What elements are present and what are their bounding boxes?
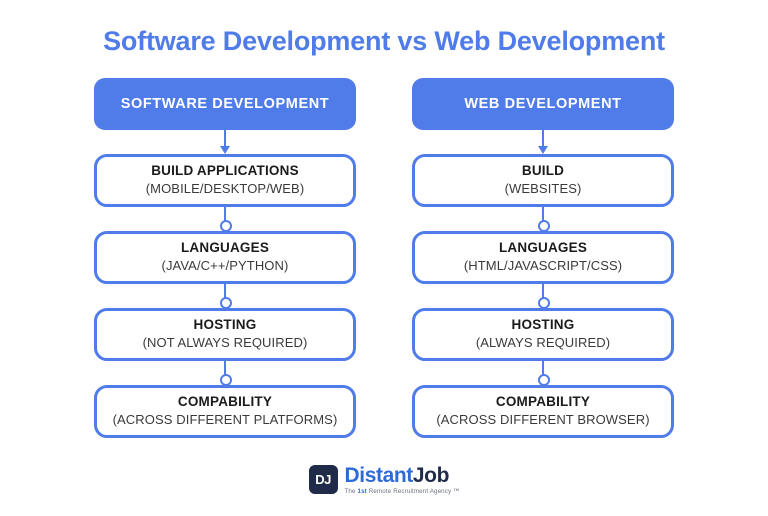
logo-wordmark: DistantJob (345, 465, 460, 486)
infographic-canvas: Software Development vs Web Development … (0, 0, 768, 516)
card-title: HOSTING (194, 317, 257, 334)
card-software-3: COMPABILITY (ACROSS DIFFERENT PLATFORMS) (94, 385, 356, 438)
card-subtitle: (HTML/JAVASCRIPT/CSS) (464, 258, 622, 275)
card-subtitle: (NOT ALWAYS REQUIRED) (143, 335, 308, 352)
card-title: LANGUAGES (181, 240, 269, 257)
connector-ring-software-1 (94, 207, 356, 231)
circle-node-icon (220, 220, 232, 232)
tagline-highlight: 1st (357, 488, 366, 495)
card-web-2: HOSTING (ALWAYS REQUIRED) (412, 308, 674, 361)
tagline-before: The (345, 488, 358, 495)
card-software-2: HOSTING (NOT ALWAYS REQUIRED) (94, 308, 356, 361)
card-title: BUILD APPLICATIONS (151, 163, 299, 180)
connector-ring-web-2 (412, 284, 674, 308)
connector-arrow-web-0 (412, 130, 674, 154)
column-software-development: SOFTWARE DEVELOPMENT BUILD APPLICATIONS … (94, 78, 356, 438)
connector-line (224, 207, 226, 221)
circle-node-icon (538, 220, 550, 232)
logo-text: DistantJob The 1st Remote Recruitment Ag… (345, 465, 460, 495)
page-title: Software Development vs Web Development (0, 26, 768, 57)
connector-line (224, 130, 226, 147)
column-header-web-development: WEB DEVELOPMENT (412, 78, 674, 130)
card-title: COMPABILITY (178, 394, 272, 411)
card-software-1: LANGUAGES (JAVA/C++/PYTHON) (94, 231, 356, 284)
card-subtitle: (ACROSS DIFFERENT BROWSER) (436, 412, 649, 429)
card-subtitle: (MOBILE/DESKTOP/WEB) (146, 181, 305, 198)
connector-line (542, 207, 544, 221)
footer: DJ DistantJob The 1st Remote Recruitment… (0, 465, 768, 495)
card-title: LANGUAGES (499, 240, 587, 257)
distantjob-logo: DJ DistantJob The 1st Remote Recruitment… (309, 465, 460, 495)
card-web-1: LANGUAGES (HTML/JAVASCRIPT/CSS) (412, 231, 674, 284)
circle-node-icon (220, 374, 232, 386)
column-header-software-development: SOFTWARE DEVELOPMENT (94, 78, 356, 130)
card-subtitle: (ALWAYS REQUIRED) (476, 335, 610, 352)
circle-node-icon (538, 297, 550, 309)
card-software-0: BUILD APPLICATIONS (MOBILE/DESKTOP/WEB) (94, 154, 356, 207)
connector-line (224, 361, 226, 375)
column-web-development: WEB DEVELOPMENT BUILD (WEBSITES) LANGUAG… (412, 78, 674, 438)
connector-arrow-software-0 (94, 130, 356, 154)
logo-word-distant: Distant (345, 464, 413, 487)
comparison-columns: SOFTWARE DEVELOPMENT BUILD APPLICATIONS … (0, 78, 768, 438)
card-subtitle: (JAVA/C++/PYTHON) (162, 258, 289, 275)
card-title: HOSTING (512, 317, 575, 334)
arrow-down-icon (220, 146, 230, 154)
logo-mark-icon: DJ (309, 465, 338, 494)
card-subtitle: (ACROSS DIFFERENT PLATFORMS) (113, 412, 338, 429)
logo-word-job: Job (413, 464, 449, 487)
card-subtitle: (WEBSITES) (505, 181, 582, 198)
connector-line (542, 130, 544, 147)
tagline-after: Remote Recruitment Agency ™ (367, 488, 460, 495)
card-title: COMPABILITY (496, 394, 590, 411)
card-web-3: COMPABILITY (ACROSS DIFFERENT BROWSER) (412, 385, 674, 438)
connector-line (542, 361, 544, 375)
connector-line (224, 284, 226, 298)
card-web-0: BUILD (WEBSITES) (412, 154, 674, 207)
arrow-down-icon (538, 146, 548, 154)
connector-ring-software-3 (94, 361, 356, 385)
connector-ring-software-2 (94, 284, 356, 308)
connector-ring-web-3 (412, 361, 674, 385)
connector-line (542, 284, 544, 298)
connector-ring-web-1 (412, 207, 674, 231)
card-title: BUILD (522, 163, 564, 180)
circle-node-icon (538, 374, 550, 386)
logo-tagline: The 1st Remote Recruitment Agency ™ (345, 489, 460, 495)
circle-node-icon (220, 297, 232, 309)
